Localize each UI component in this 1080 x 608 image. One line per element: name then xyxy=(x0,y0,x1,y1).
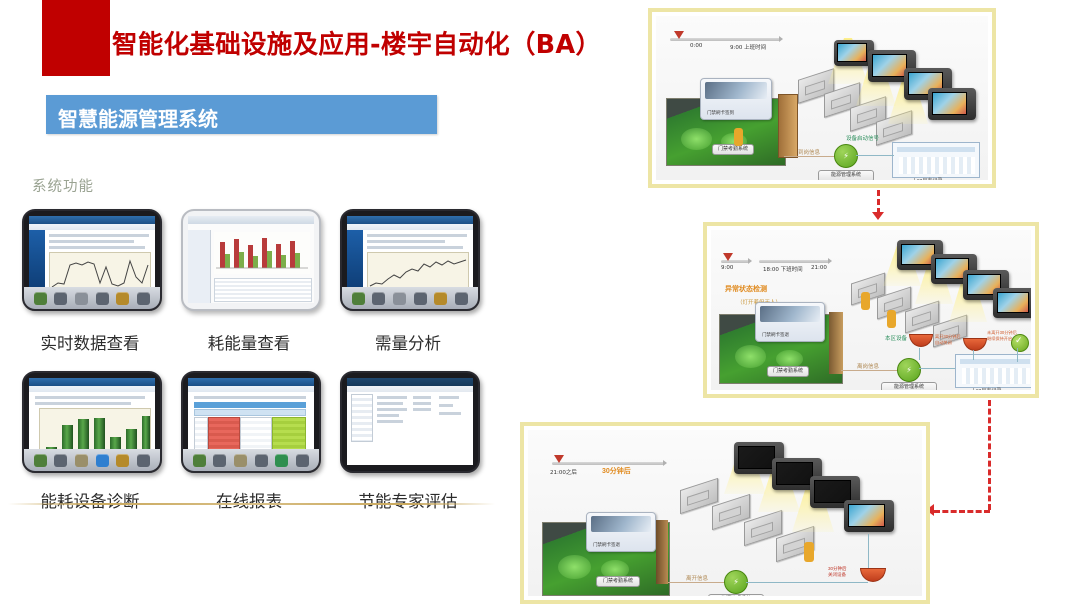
screen-content xyxy=(188,378,314,449)
arrow-corner-vertical xyxy=(988,400,991,510)
thumbnail-expert-evaluation[interactable] xyxy=(340,371,476,469)
caption-expert-evaluation: 节能专家评估 xyxy=(340,488,476,512)
thumbnail-equipment-diagnosis[interactable] xyxy=(22,371,158,469)
timeline-end-label: 9:00 上班时间 xyxy=(730,43,766,51)
divider-gold-line xyxy=(8,503,495,505)
line-chart xyxy=(49,252,151,287)
person-icon xyxy=(861,292,870,310)
device-off-icon xyxy=(963,338,987,351)
diagram-panel-evening[interactable]: 9:00 18:00 下班时间 21:00 异常状态检测 （灯开着但无人） 门禁… xyxy=(703,222,1039,398)
sensor-label: 设备启动信号 xyxy=(846,134,879,142)
timeline-mid-label: 18:00 下班时间 xyxy=(763,265,803,273)
sensor-label: 30分钟后 关闭设备 xyxy=(828,566,847,578)
device-off-icon xyxy=(909,334,933,347)
thumbnail-energy-consumption[interactable] xyxy=(181,209,317,307)
kiosk-label: 门禁刷卡签退 xyxy=(762,332,789,338)
flow-label: 到岗信息 xyxy=(798,148,820,156)
timeline-start-label: 21:00之后 xyxy=(550,468,577,476)
door-icon xyxy=(656,520,668,584)
door-icon xyxy=(829,312,843,374)
caption-equipment-diagnosis: 能耗设备诊断 xyxy=(22,488,158,512)
energy-system-label: 能源管理系统 xyxy=(881,382,937,390)
kiosk-label: 门禁刷卡签到 xyxy=(707,110,734,116)
diagram-panel-night[interactable]: 21:00之后 30分钟后 门禁刷卡签退 门禁考勤系统 30分钟后 关闭设备 xyxy=(520,422,930,604)
trend-chart xyxy=(367,252,469,287)
kiosk-popup: 门禁刷卡签到 xyxy=(700,78,772,120)
thumbnail-dock xyxy=(183,449,319,471)
energy-system-node-icon: ⚡ xyxy=(724,570,748,594)
log-label: Log日志记录 xyxy=(973,387,1001,390)
timeline-start-label: 9:00 xyxy=(721,265,733,271)
arrow-corner-horizontal xyxy=(934,510,990,513)
thumbnail-online-report[interactable] xyxy=(181,371,317,469)
section-label: 系统功能 xyxy=(32,175,94,196)
device-off-icon xyxy=(860,568,886,582)
page-title: 智能化基础设施及应用-楼宇自动化（BA） xyxy=(112,24,672,61)
door-system-label: 门禁考勤系统 xyxy=(712,144,754,155)
arrow-down-line xyxy=(877,190,880,214)
screen-content xyxy=(347,378,473,465)
door-system-label: 门禁考勤系统 xyxy=(596,576,640,587)
energy-system-node-icon: ⚡ xyxy=(834,144,858,168)
green-bar-chart xyxy=(39,408,151,449)
thumbnail-dock xyxy=(24,449,160,471)
report-block-ok xyxy=(272,417,306,449)
thumbnail-frame xyxy=(340,209,480,311)
screen-content xyxy=(347,216,473,287)
thumbnail-realtime-data[interactable] xyxy=(22,209,158,307)
flow-label: 离岗信息 xyxy=(857,362,879,370)
thumbnail-frame xyxy=(181,209,321,311)
monitor-icon xyxy=(993,288,1031,318)
alert-title: 异常状态检测 xyxy=(725,284,767,294)
thumbnail-frame xyxy=(340,371,480,473)
diagram-canvas: 9:00 18:00 下班时间 21:00 异常状态检测 （灯开着但无人） 门禁… xyxy=(711,230,1031,390)
diagram-canvas: 21:00之后 30分钟后 门禁刷卡签退 门禁考勤系统 30分钟后 关闭设备 xyxy=(528,430,922,596)
monitor-icon xyxy=(928,88,976,120)
caption-energy-consumption: 耗能量查看 xyxy=(181,330,317,354)
slide-root: 智能化基础设施及应用-楼宇自动化（BA） 智慧能源管理系统 系统功能 实时数据查… xyxy=(0,0,1080,608)
kiosk-popup: 门禁刷卡签退 xyxy=(586,512,656,552)
energy-system-label: 能源管理系统 xyxy=(708,594,764,596)
thumbnail-frame xyxy=(22,371,162,473)
log-window xyxy=(892,142,980,178)
timeline-end-label: 21:00 xyxy=(811,265,827,271)
flow-label: 离开信息 xyxy=(686,574,708,582)
screen-content xyxy=(188,216,314,303)
person-icon xyxy=(804,542,814,562)
caption-demand-analysis: 需量分析 xyxy=(340,330,476,354)
warning-label-1: 离开30分钟后 自动关闭 xyxy=(935,334,961,346)
log-window xyxy=(955,354,1031,388)
title-accent-block xyxy=(42,0,110,76)
screen-content xyxy=(29,216,155,287)
door-icon xyxy=(778,94,798,158)
kiosk-label: 门禁刷卡签退 xyxy=(593,542,620,548)
energy-system-label: 能源管理系统 xyxy=(818,170,874,180)
thumbnail-dock xyxy=(342,287,478,309)
person-icon xyxy=(734,128,743,146)
diagram-panel-morning[interactable]: 0:00 9:00 上班时间 门禁刷卡签到 门禁考勤系统 设备启动信号 xyxy=(648,8,996,188)
report-block-normal xyxy=(240,417,272,449)
timeline-note-label: 30分钟后 xyxy=(602,466,631,476)
thumbnail-dock xyxy=(24,287,160,309)
thumbnail-demand-analysis[interactable] xyxy=(340,209,476,307)
thumbnail-frame xyxy=(181,371,321,473)
person-icon xyxy=(887,310,896,328)
report-block-over xyxy=(208,417,240,449)
grouped-bar-chart xyxy=(214,232,310,274)
sensor-label: 本区设备 xyxy=(885,334,907,342)
timeline-start-label: 0:00 xyxy=(690,43,702,49)
warning-label-2: 未离开30分钟后 继续保持开启 xyxy=(987,330,1017,342)
screen-content xyxy=(29,378,155,449)
diagram-canvas: 0:00 9:00 上班时间 门禁刷卡签到 门禁考勤系统 设备启动信号 xyxy=(656,16,988,180)
log-label: Log日志记录 xyxy=(914,177,942,180)
caption-online-report: 在线报表 xyxy=(181,488,317,512)
subtitle-banner: 智慧能源管理系统 xyxy=(46,95,437,134)
monitor-icon xyxy=(844,500,894,532)
arrow-down-head-icon xyxy=(872,212,884,220)
subtitle-text: 智慧能源管理系统 xyxy=(58,103,218,132)
caption-realtime-data: 实时数据查看 xyxy=(22,330,158,354)
energy-system-node-icon: ⚡ xyxy=(897,358,921,382)
kiosk-popup: 门禁刷卡签退 xyxy=(755,302,825,342)
thumbnail-frame xyxy=(22,209,162,311)
door-system-label: 门禁考勤系统 xyxy=(767,366,809,377)
